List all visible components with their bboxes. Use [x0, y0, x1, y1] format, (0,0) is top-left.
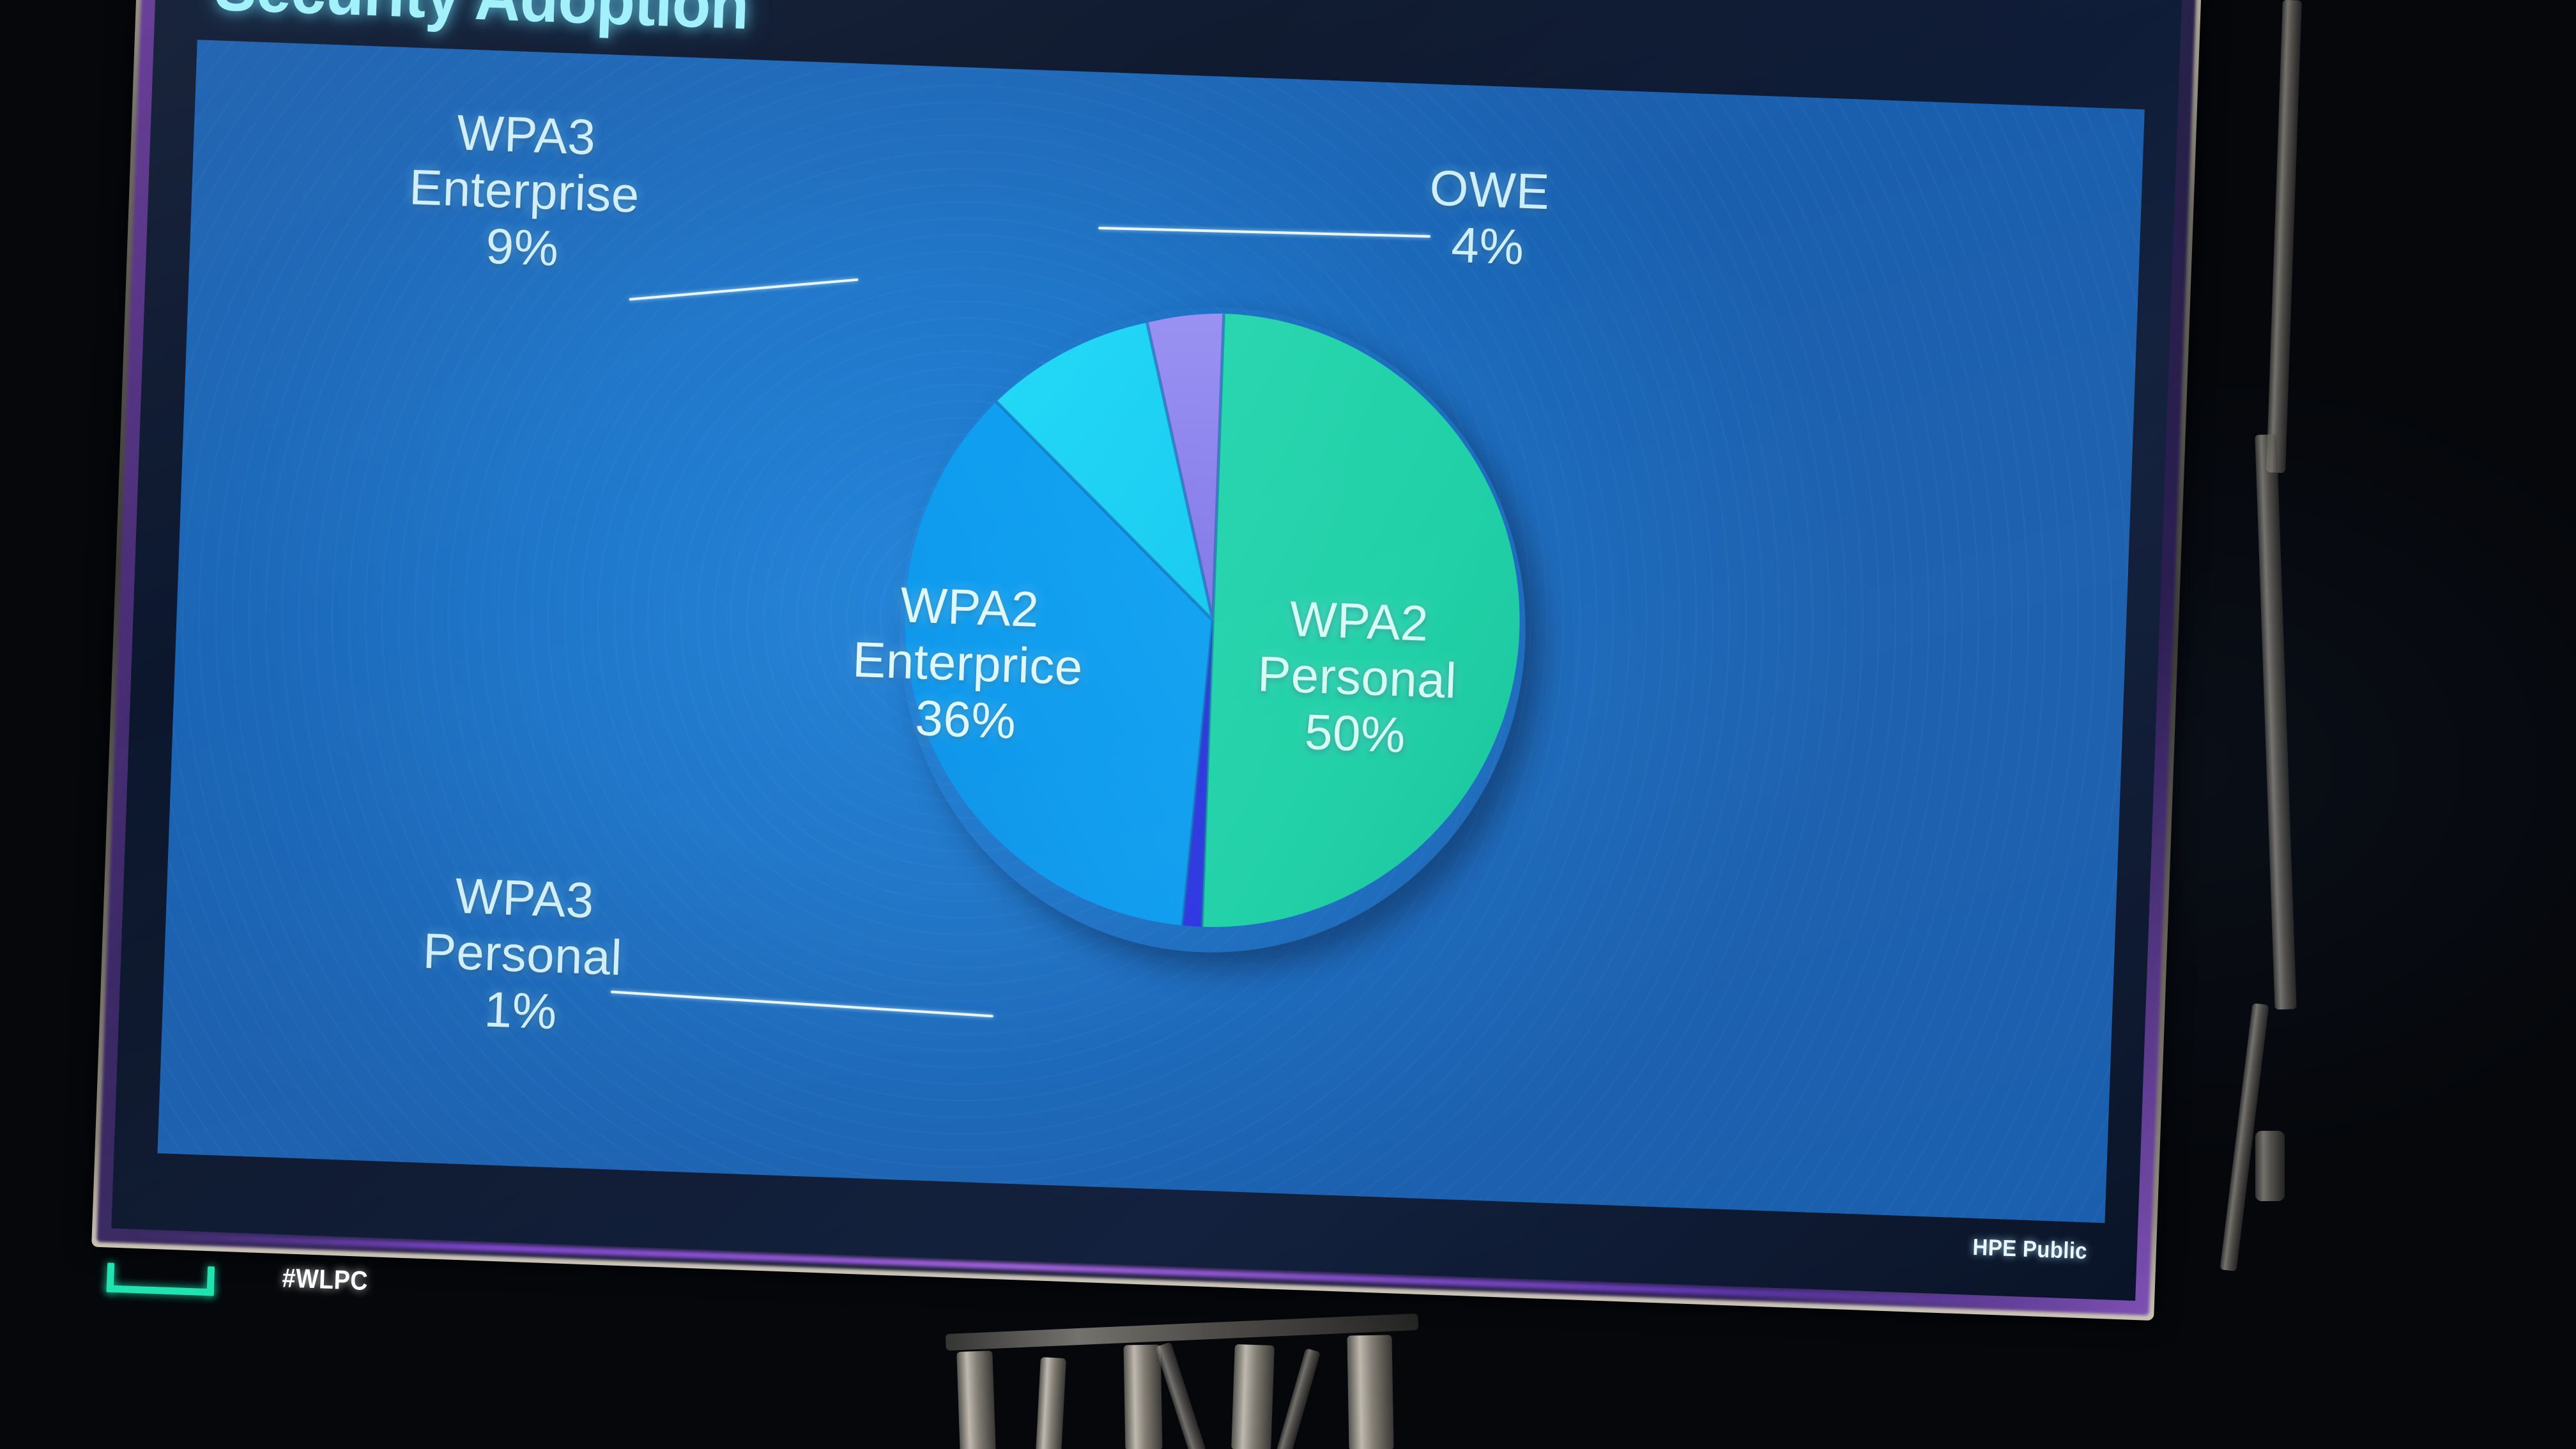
television-display: Security Adoption — [91, 0, 2202, 1321]
truss-leg-2 — [1036, 1357, 1066, 1449]
slice-label-wpa2-enterprice: WPA2 Enterprice 36% — [799, 573, 1137, 754]
page-title: Security Adoption — [213, 0, 750, 45]
classification-label: HPE Public — [1972, 1234, 2088, 1264]
slide-screen: Security Adoption — [111, 0, 2182, 1301]
slice-label-wpa3-personal: WPA3 Personal 1% — [347, 864, 698, 1045]
truss-leg-5 — [1347, 1335, 1393, 1449]
slice-label-owe: OWE 4% — [1359, 157, 1618, 279]
leader-line-wpa3-enterprise — [629, 279, 859, 301]
event-hashtag: #WLPC — [282, 1262, 369, 1296]
truss-leg-1 — [956, 1351, 996, 1449]
slice-label-wpa2-personal: WPA2 Personal 50% — [1195, 587, 1520, 767]
slice-label-wpa3-enterprise: WPA3 Enterprise 9% — [342, 100, 706, 282]
truss-leg-4 — [1231, 1344, 1275, 1449]
hpe-logo-bracket-icon — [107, 1256, 215, 1296]
truss-leg-3 — [1124, 1345, 1163, 1449]
connector-box-right — [2255, 1131, 2285, 1201]
photo-of-presentation-screen: Security Adoption — [0, 0, 2576, 1449]
chart-panel: WPA3 Enterprise 9% OWE 4% WPA2 Enterpric… — [157, 40, 2144, 1223]
